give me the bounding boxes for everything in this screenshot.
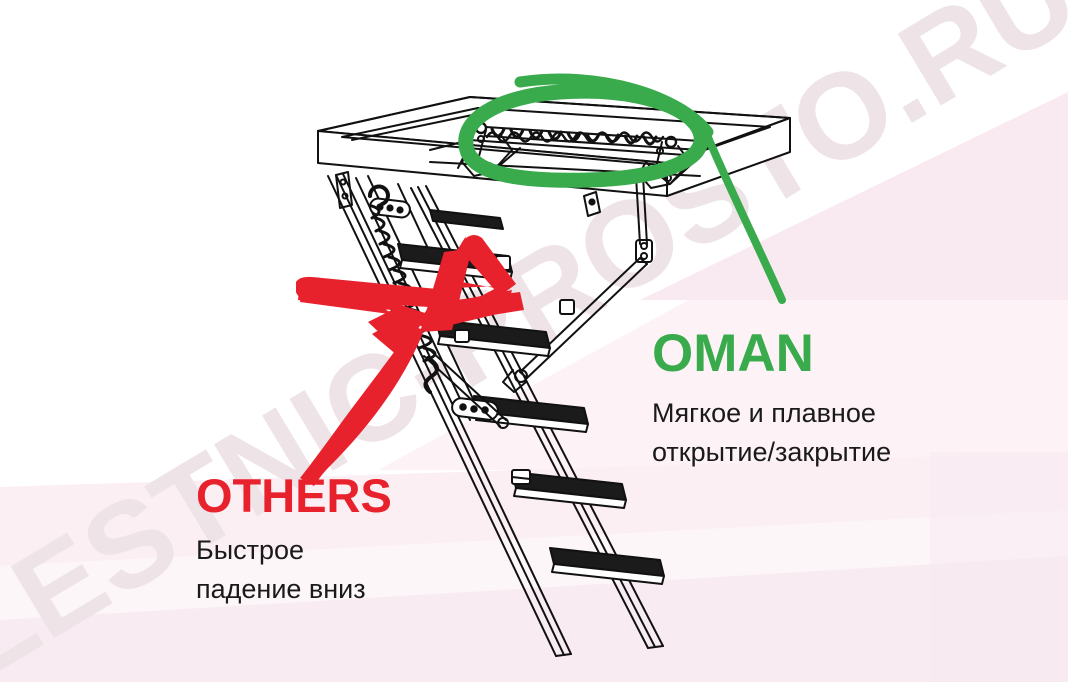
scissor-linkage-left	[458, 130, 520, 176]
rail-brackets	[430, 256, 574, 484]
hinge-box-right	[584, 192, 600, 216]
oman-headline: OMAN	[652, 327, 982, 380]
ladder-step	[550, 548, 664, 584]
hanger-rod-right	[636, 176, 652, 262]
others-headline: OTHERS	[196, 472, 526, 519]
oman-description-line-2: открытие/закрытие	[652, 433, 982, 472]
ladder-step-upper	[430, 210, 503, 229]
oman-callout: OMAN Мягкое и плавное открытие/закрытие	[652, 327, 982, 472]
oman-description: Мягкое и плавное открытие/закрытие	[652, 394, 982, 472]
red-arrow	[296, 235, 524, 486]
oman-description-line-1: Мягкое и плавное	[652, 394, 982, 433]
coil-spring	[476, 123, 676, 147]
ladder-step	[512, 472, 626, 508]
green-highlight-ellipse	[466, 79, 708, 180]
others-description: Быстрое падение вниз	[196, 531, 526, 609]
others-description-line-1: Быстрое	[196, 531, 526, 570]
illustration-canvas: LESTNIC-PROSTO.RU	[0, 0, 1068, 682]
others-callout: OTHERS Быстрое падение вниз	[196, 472, 526, 609]
ladder-upper-section	[356, 176, 482, 420]
gas-strut-left	[424, 350, 508, 428]
hinge-plate-lower	[451, 397, 499, 420]
ladder-step	[436, 320, 550, 356]
green-pointer-line	[704, 128, 782, 300]
gas-strut-right	[503, 258, 647, 392]
ladder-coil-spring	[370, 187, 437, 392]
ceiling-hatch-box	[318, 97, 790, 196]
hinge-plate-upper	[369, 198, 411, 219]
others-description-line-2: падение вниз	[196, 570, 526, 609]
scissor-linkage-right	[639, 142, 696, 188]
ladder-step	[474, 396, 588, 432]
ladder-step	[398, 244, 512, 280]
mount-bracket-left	[336, 172, 352, 208]
